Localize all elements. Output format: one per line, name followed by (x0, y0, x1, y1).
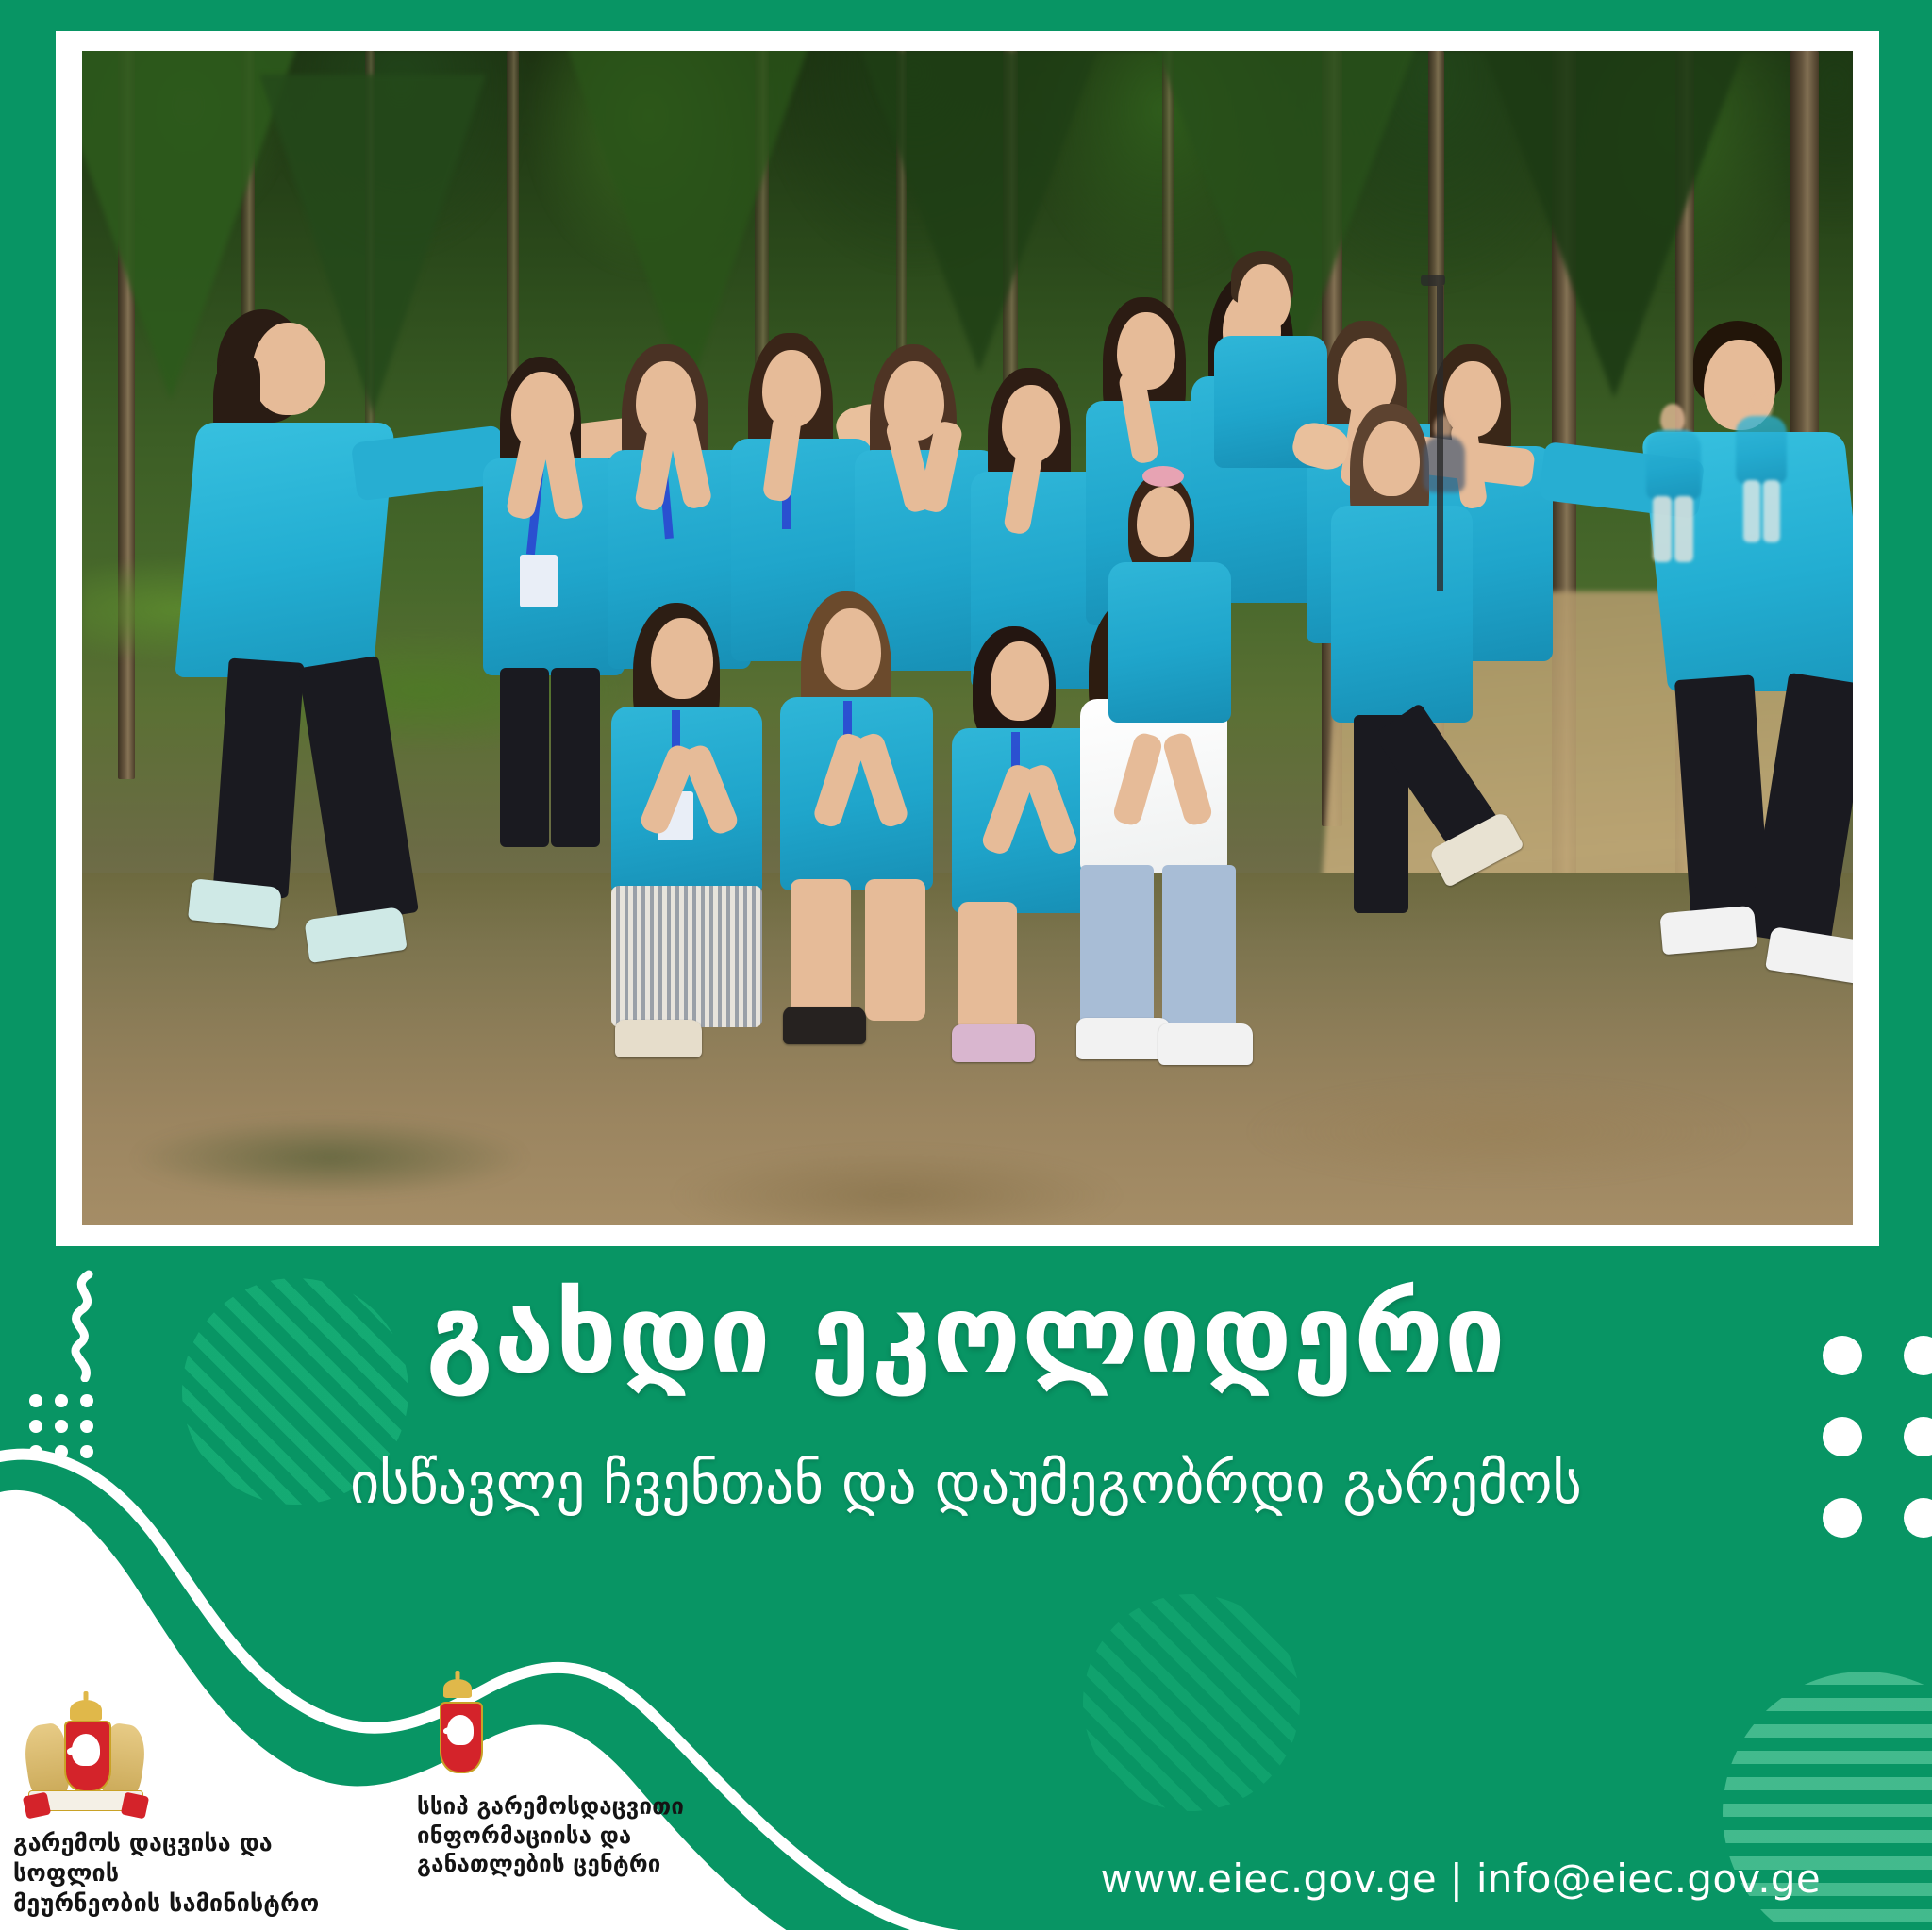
group-photo (82, 51, 1853, 1225)
footer-logos: გარემოს დაცვისა და სოფლის მეურნეობის სამ… (0, 1647, 1038, 1930)
person-front-1 (605, 603, 782, 1167)
photo-frame (56, 31, 1879, 1246)
logo-ministry-line-2: მეურნეობის სამინისტრო (13, 1888, 372, 1919)
logo-eiec-caption: სსიპ გარემოსდაცვითი ინფორმაციისა და განა… (417, 1792, 757, 1879)
lamp-post (1437, 286, 1443, 591)
person-background-walker-1 (1641, 404, 1711, 662)
person-mid-bow (1100, 474, 1241, 943)
page-title: გახდი ეკოლიდერი (0, 1278, 1932, 1392)
poster-root: გახდი ეკოლიდერი ისწავლე ჩვენთან და დაუმე… (0, 0, 1932, 1930)
person-front-2 (773, 591, 950, 1179)
person-back-2 (480, 357, 622, 1038)
logo-ministry-caption: გარემოს დაცვისა და სოფლის მეურნეობის სამ… (13, 1828, 372, 1919)
logo-eiec-line-3: განათლების ცენტრი (417, 1850, 757, 1879)
person-background-walker-3 (1419, 415, 1472, 603)
logo-ministry: გარემოს დაცვისა და სოფლის მეურნეობის სამ… (13, 1696, 372, 1919)
person-background-walker-2 (1729, 391, 1800, 650)
person-back-1 (135, 309, 525, 1132)
georgia-small-coat-of-arms-icon (425, 1677, 492, 1777)
lamp-head (1421, 275, 1445, 286)
logo-eiec-line-2: ინფორმაციისა და (417, 1822, 757, 1851)
georgia-coat-of-arms-icon (23, 1696, 145, 1815)
logo-ministry-line-1: გარემოს დაცვისა და სოფლის (13, 1828, 372, 1888)
logo-eiec: სსიპ გარემოსდაცვითი ინფორმაციისა და განა… (417, 1677, 757, 1879)
contact-info[interactable]: www.eiec.gov.ge | info@eiec.gov.ge (1100, 1855, 1821, 1902)
logo-eiec-line-1: სსიპ გარემოსდაცვითი (417, 1792, 757, 1822)
